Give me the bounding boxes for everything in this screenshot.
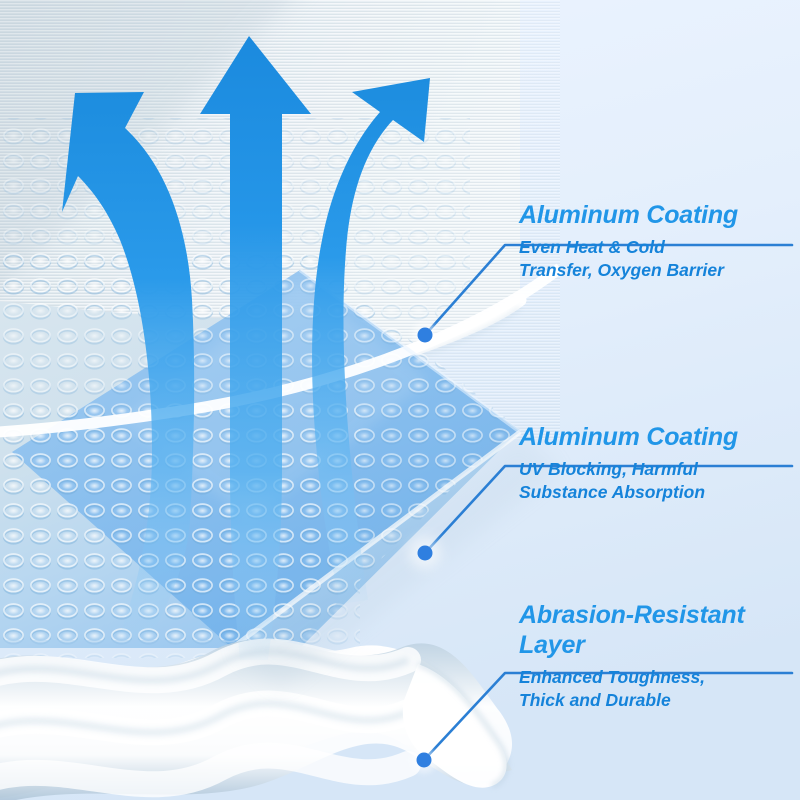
callout-aluminum-coating-top: Aluminum Coating Even Heat & Cold Transf… <box>505 200 800 282</box>
callout-dot <box>418 546 433 561</box>
infographic-stage: Aluminum Coating Even Heat & Cold Transf… <box>0 0 800 800</box>
callout-aluminum-coating-middle: Aluminum Coating UV Blocking, Harmful Su… <box>505 422 800 504</box>
callout-title: Aluminum Coating <box>519 422 800 452</box>
callout-description: Enhanced Toughness, Thick and Durable <box>519 666 800 712</box>
callout-description: Even Heat & Cold Transfer, Oxygen Barrie… <box>519 236 800 282</box>
callout-abrasion-resistant-layer: Abrasion-Resistant Layer Enhanced Toughn… <box>505 600 800 712</box>
callout-title: Aluminum Coating <box>519 200 800 230</box>
callout-description: UV Blocking, Harmful Substance Absorptio… <box>519 458 800 504</box>
callout-dot <box>417 753 432 768</box>
callout-dot <box>418 328 433 343</box>
callout-title: Abrasion-Resistant Layer <box>519 600 800 660</box>
